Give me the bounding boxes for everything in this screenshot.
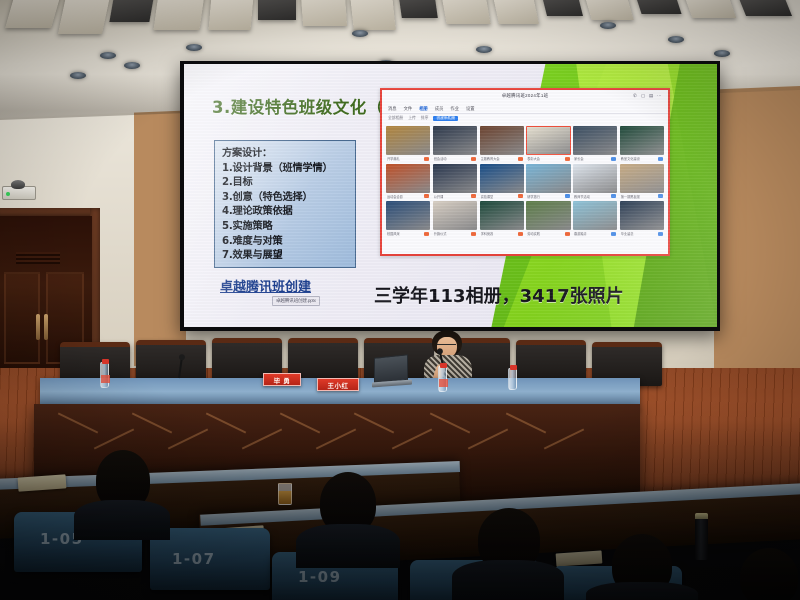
qq-album-item[interactable]: 家长会: [573, 126, 617, 161]
tab-files[interactable]: 文件: [404, 106, 413, 112]
qq-album-caption-row: 开学典礼: [386, 155, 430, 161]
qq-album-thumbnail[interactable]: [386, 126, 430, 155]
qq-badge-blue-icon: [658, 157, 663, 161]
nameplate-1: 毕 勇: [263, 373, 301, 386]
qq-album-thumbnail[interactable]: [620, 164, 664, 193]
qq-album-thumbnail[interactable]: [620, 201, 664, 230]
slide-hyperlink[interactable]: 卓越腾讯班创建: [220, 276, 311, 295]
more-icon[interactable]: ⋯: [657, 93, 662, 98]
ceiling-baffle: [398, 0, 438, 18]
ceiling-baffle: [541, 0, 583, 16]
conference-room-scene: 3.建设特色班级文化（创新心） 方案设计： 1.设计背景（班情学情） 2.目标 …: [0, 0, 800, 600]
tab-settings[interactable]: 设置: [466, 106, 475, 112]
qq-album-item[interactable]: 教师节活动: [573, 164, 617, 199]
qq-album-screenshot: 卓越腾讯班2024年1班 ✆ ▢ ▤ ⋯ 消息 文件 相册 成员 作业 设置 全…: [380, 88, 670, 256]
downlight-icon: [600, 22, 616, 29]
downlight-icon: [714, 50, 730, 57]
tab-messages[interactable]: 消息: [388, 106, 397, 112]
door-vent: [16, 252, 60, 264]
qq-badge-blue-icon: [611, 232, 616, 236]
downlight-icon: [100, 52, 116, 59]
qq-album-item[interactable]: 班会活动: [433, 126, 477, 161]
qq-badge-orange-icon: [471, 157, 476, 161]
qq-album-thumbnail[interactable]: [480, 164, 524, 193]
water-bottle[interactable]: [508, 368, 517, 390]
qq-album-caption-row: 毕业留念: [620, 230, 664, 236]
ceiling-baffle: [109, 0, 154, 22]
door-frame-top: [0, 208, 100, 216]
downlight-icon: [476, 46, 492, 53]
qq-album-caption-row: 主题教育大会: [480, 155, 524, 161]
qq-album-thumbnail[interactable]: [386, 201, 430, 230]
qq-badge-orange-icon: [424, 232, 429, 236]
qq-album-caption: 教师节活动: [574, 194, 590, 199]
status-led-icon: [6, 192, 10, 196]
water-bottle[interactable]: [100, 362, 109, 388]
qq-album-caption: 春游踏青: [574, 231, 587, 236]
qq-badge-blue-icon: [611, 194, 616, 198]
qq-album-caption-row: 校园风采: [386, 230, 430, 236]
phone-icon[interactable]: ✆: [633, 93, 638, 98]
tea-glass[interactable]: [278, 483, 292, 505]
qq-album-item[interactable]: 表彰大会: [526, 126, 570, 161]
qq-album-item[interactable]: 校园风采: [386, 201, 430, 236]
video-icon[interactable]: ▢: [641, 93, 646, 98]
qq-album-caption-row: 第一期黑板报: [620, 193, 664, 199]
qq-album-item[interactable]: 第一期黑板报: [620, 164, 664, 199]
wall-device: [2, 186, 36, 200]
downlight-icon: [124, 62, 140, 69]
qq-album-caption-row: 家长会: [573, 155, 617, 161]
ceiling-baffle: [634, 0, 681, 14]
qq-album-caption: 研学旅行: [527, 194, 540, 199]
led-screen[interactable]: 3.建设特色班级文化（创新心） 方案设计： 1.设计背景（班情学情） 2.目标 …: [184, 64, 717, 327]
qq-album-caption: 教室文化建设: [621, 156, 640, 161]
plan-item-2: 2.目标: [222, 176, 348, 191]
qq-album-caption-row: 班会活动: [433, 155, 477, 161]
qq-album-item[interactable]: 毕业留念: [620, 201, 664, 236]
qq-badge-blue-icon: [611, 157, 616, 161]
qq-album-item[interactable]: 开学典礼: [386, 126, 430, 161]
qq-album-thumbnail[interactable]: [386, 164, 430, 193]
qq-album-thumbnail[interactable]: [573, 126, 617, 155]
door-panel: [4, 272, 40, 364]
qq-badge-orange-icon: [424, 157, 429, 161]
ceiling-baffle: [258, 0, 296, 20]
ceiling-baffle: [58, 0, 110, 34]
folder-icon[interactable]: ▤: [649, 93, 654, 98]
plan-item-7: 7.效果与展望: [222, 249, 348, 264]
downlight-icon: [70, 72, 86, 79]
qq-badge-blue-icon: [565, 194, 570, 198]
qq-badge-orange-icon: [424, 194, 429, 198]
qq-album-caption: 班会活动: [434, 156, 447, 161]
qq-album-item[interactable]: 实验课堂: [480, 164, 524, 199]
qq-album-thumbnail[interactable]: [620, 126, 664, 155]
qq-album-caption-row: 表彰大会: [526, 155, 570, 161]
slide-file-chip: 卓越腾讯班创建.pptx: [272, 296, 320, 306]
qq-album-item[interactable]: 春游踏青: [573, 201, 617, 236]
qq-album-item[interactable]: 运动会合影: [386, 164, 430, 199]
ceiling-baffle: [153, 0, 204, 30]
qq-album-thumbnail[interactable]: [573, 164, 617, 193]
qq-album-caption-row: 劳动实践: [526, 230, 570, 236]
qq-album-caption-row: 运动会合影: [386, 193, 430, 199]
qq-badge-blue-icon: [658, 194, 663, 198]
water-bottle[interactable]: [438, 366, 447, 392]
presentation-slide: 3.建设特色班级文化（创新心） 方案设计： 1.设计背景（班情学情） 2.目标 …: [184, 64, 717, 327]
qq-album-caption: 开学典礼: [387, 156, 400, 161]
ceiling-baffle: [209, 0, 254, 30]
qq-album-caption-row: 研学旅行: [526, 193, 570, 199]
qq-album-caption: 表彰大会: [527, 156, 540, 161]
plan-item-4: 4.理论政策依据: [222, 205, 348, 220]
notebook[interactable]: [556, 550, 603, 566]
qq-album-caption-row: 春游踏青: [573, 230, 617, 236]
qq-badge-orange-icon: [565, 232, 570, 236]
qq-album-thumbnail[interactable]: [433, 126, 477, 155]
qq-album-caption-row: 升旗仪式: [433, 230, 477, 236]
qq-badge-orange-icon: [565, 157, 570, 161]
ceiling-baffle: [493, 0, 539, 24]
slide-statistic: 三学年113相册，3417张照片: [374, 282, 624, 308]
qq-album-item[interactable]: 升旗仪式: [433, 201, 477, 236]
downlight-icon: [186, 44, 202, 51]
ceiling-baffle: [301, 0, 347, 26]
qq-album-thumbnail[interactable]: [433, 164, 477, 193]
seat-number: 1-09: [298, 568, 342, 586]
ceiling-baffle: [584, 0, 633, 20]
qq-album-thumbnail[interactable]: [526, 126, 570, 155]
thermos[interactable]: [695, 518, 708, 560]
wood-slat-wall-left: [134, 104, 186, 366]
wood-slat-wall-right: [714, 66, 800, 388]
qq-album-thumbnail[interactable]: [573, 201, 617, 230]
qq-group-title: 卓越腾讯班2024年1班: [502, 93, 549, 99]
audience-shoulders: [452, 560, 564, 600]
qq-album-thumbnail[interactable]: [526, 201, 570, 230]
qq-album-item[interactable]: 研学旅行: [526, 164, 570, 199]
qq-tabbar[interactable]: 消息 文件 相册 成员 作业 设置: [382, 103, 668, 114]
door-handle-icon[interactable]: [44, 314, 48, 340]
plan-item-3: 3.创意（特色选择）: [222, 191, 348, 206]
qq-album-caption: 校园风采: [387, 231, 400, 236]
nameplate-2: 王小红: [317, 378, 359, 391]
qq-album-item[interactable]: 教室文化建设: [620, 126, 664, 161]
plan-item-6: 6.难度与对策: [222, 235, 348, 250]
ceiling-baffle: [441, 0, 490, 24]
qq-album-item[interactable]: 公开课: [433, 164, 477, 199]
qq-sort[interactable]: 排序: [421, 116, 429, 121]
qq-subbar: 全部相册 上传 排序 创建新相册: [382, 114, 668, 123]
qq-badge-orange-icon: [471, 194, 476, 198]
qq-album-thumbnail[interactable]: [526, 164, 570, 193]
qq-album-thumbnail[interactable]: [433, 201, 477, 230]
qq-badge-orange-icon: [518, 194, 523, 198]
seat-number: 1-07: [172, 550, 216, 568]
ceiling-baffle: [684, 0, 737, 18]
audience-head: [740, 548, 798, 600]
tab-homework[interactable]: 作业: [450, 106, 459, 112]
downlight-icon: [668, 36, 684, 43]
plan-design-box: 方案设计： 1.设计背景（班情学情） 2.目标 3.创意（特色选择） 4.理论政…: [214, 140, 356, 268]
qq-album-caption: 第一期黑板报: [621, 194, 640, 199]
qq-thumbnail-grid: 开学典礼班会活动主题教育大会表彰大会家长会教室文化建设运动会合影公开课实验课堂研…: [382, 123, 668, 239]
qq-album-caption-row: 教师节活动: [573, 193, 617, 199]
qq-album-caption-row: 教室文化建设: [620, 155, 664, 161]
qq-album-caption: 毕业留念: [621, 231, 634, 236]
qq-album-caption: 运动会合影: [387, 194, 403, 199]
qq-album-caption: 家长会: [574, 156, 584, 161]
audience-shoulders: [74, 500, 170, 540]
qq-album-item[interactable]: 主题教育大会: [480, 126, 524, 161]
camera-icon: [11, 180, 25, 189]
qq-album-thumbnail[interactable]: [480, 126, 524, 155]
qq-all-albums[interactable]: 全部相册: [388, 116, 403, 121]
qq-badge-orange-icon: [471, 232, 476, 236]
tab-members[interactable]: 成员: [435, 106, 444, 112]
qq-album-item[interactable]: 劳动实践: [526, 201, 570, 236]
qq-album-caption: 劳动实践: [527, 231, 540, 236]
qq-create-album-button[interactable]: 创建新相册: [433, 116, 458, 121]
plan-heading: 方案设计：: [222, 147, 348, 162]
qq-badge-blue-icon: [658, 232, 663, 236]
qq-album-caption-row: 实验课堂: [480, 193, 524, 199]
qq-badge-orange-icon: [518, 157, 523, 161]
door-handle-icon[interactable]: [36, 314, 40, 340]
qq-album-caption: 主题教育大会: [481, 156, 500, 161]
tab-albums[interactable]: 相册: [419, 106, 428, 112]
qq-upload[interactable]: 上传: [408, 116, 416, 121]
qq-album-caption-row: 学科竞赛: [480, 230, 524, 236]
qq-album-caption: 公开课: [434, 194, 444, 199]
audience-shoulders: [296, 524, 400, 568]
audience-shoulders: [586, 582, 698, 600]
qq-album-item[interactable]: 学科竞赛: [480, 201, 524, 236]
qq-album-caption: 升旗仪式: [434, 231, 447, 236]
plan-item-1: 1.设计背景（班情学情）: [222, 162, 348, 177]
qq-titlebar: 卓越腾讯班2024年1班 ✆ ▢ ▤ ⋯: [382, 90, 668, 103]
qq-album-caption: 实验课堂: [481, 194, 494, 199]
plan-item-5: 5.实施策略: [222, 220, 348, 235]
ceiling-baffle: [350, 0, 396, 30]
qq-album-thumbnail[interactable]: [480, 201, 524, 230]
qq-badge-orange-icon: [518, 232, 523, 236]
downlight-icon: [352, 30, 368, 37]
qq-album-caption: 学科竞赛: [481, 231, 494, 236]
qq-album-caption-row: 公开课: [433, 193, 477, 199]
ceiling-baffle: [738, 0, 792, 16]
